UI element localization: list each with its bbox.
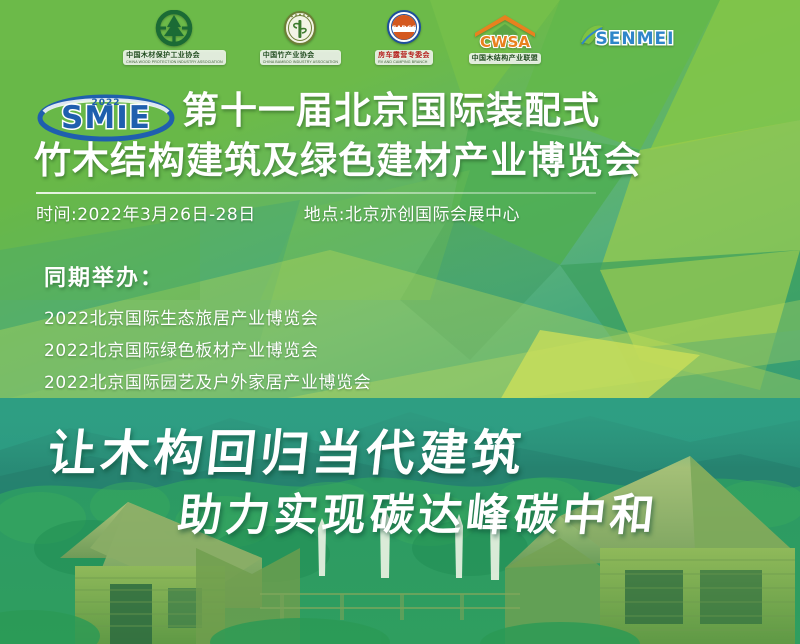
logo-china-wood-protection-industry-association: 中国木材保护工业协会 CHINA WOOD PROTECTION INDUSTR… [123, 10, 226, 65]
concurrent-event-item: 2022北京国际生态旅居产业博览会 [44, 303, 371, 335]
bamboo-in-oval-icon [279, 10, 321, 50]
senmei-wordmark: SENMEI [595, 29, 674, 49]
logo-label-cn: 中国竹产业协会 [263, 52, 338, 60]
concurrent-event-item: 2022北京国际园艺及户外家居产业博览会 [44, 367, 371, 399]
wooden-cabin-right [505, 456, 795, 644]
logo-label-cn: 房车露营专委会 [378, 52, 430, 60]
logo-label-en: RV AND CAMPING BRANCH [378, 60, 430, 64]
title-line-2: 竹木结构建筑及绿色建材产业博览会 [34, 139, 642, 183]
logo-senmei: SENMEI [577, 20, 677, 54]
svg-text:CWSA: CWSA [480, 33, 530, 51]
concurrent-events-block: 同期举办： 2022北京国际生态旅居产业博览会 2022北京国际绿色板材产业博览… [44, 264, 371, 399]
logo-label-cn: 中国木材保护工业协会 [126, 52, 223, 60]
organizer-logo-strip: 中国木材保护工业协会 CHINA WOOD PROTECTION INDUSTR… [0, 6, 800, 68]
logo-cwsa-china-wood-structure-alliance: CWSA 中国木结构产业联盟 [467, 11, 543, 64]
exhibition-poster: 中国木材保护工业协会 CHINA WOOD PROTECTION INDUSTR… [0, 0, 800, 644]
event-venue: 地点:北京亦创国际会展中心 [304, 203, 520, 227]
cadcc-roundel-icon: CADCC [382, 10, 426, 50]
smie-logo: SMIE 2022 [36, 88, 176, 144]
concurrent-events-heading: 同期举办： [44, 264, 371, 294]
title-line-1: 第十一届北京国际装配式 [182, 89, 794, 133]
slogan-line-2: 助力实现碳达峰碳中和 [175, 489, 661, 543]
leaf-wordmark-icon: SENMEI [577, 20, 677, 54]
event-date: 时间:2022年3月26日-28日 [36, 203, 256, 227]
event-meta: 时间:2022年3月26日-28日 地点:北京亦创国际会展中心 [36, 203, 520, 227]
logo-bamboo-industry-association: 中国竹产业协会 CHINA BAMBOO INDUSTRY ASSOCIATIO… [260, 10, 341, 65]
logo-label-en: CHINA WOOD PROTECTION INDUSTRY ASSOCIATI… [126, 60, 223, 64]
title-block: 第十一届北京国际装配式 [182, 89, 794, 133]
title-divider [36, 192, 596, 194]
concurrent-event-item: 2022北京国际绿色板材产业博览会 [44, 335, 371, 367]
svg-text:CADCC: CADCC [392, 24, 417, 32]
smie-badge-year: 2022 [91, 98, 120, 108]
logo-cadcc-rv-camping-committee: CADCC 房车露营专委会 RV AND CAMPING BRANCH [375, 10, 433, 65]
logo-label-en: CHINA BAMBOO INDUSTRY ASSOCIATION [263, 60, 338, 64]
slogan-line-1: 让木构回归当代建筑 [45, 424, 528, 482]
logo-label-cn: 中国木结构产业联盟 [472, 55, 539, 63]
house-roof-icon: CWSA [467, 11, 543, 57]
pine-tree-in-circle-icon [152, 10, 196, 50]
